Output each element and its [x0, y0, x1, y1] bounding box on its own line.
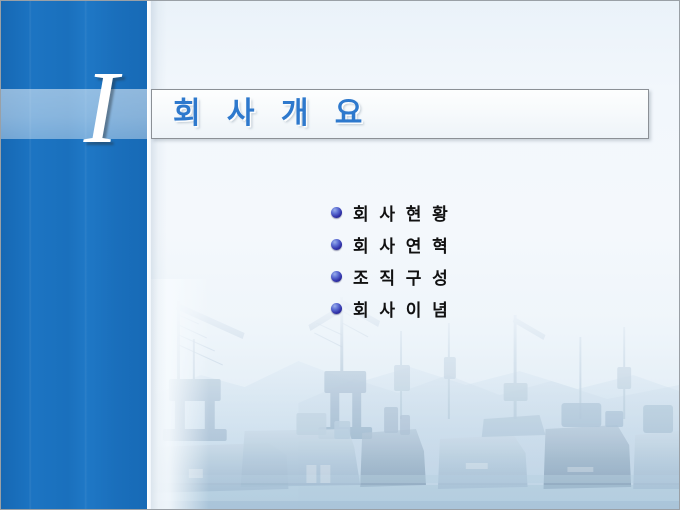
agenda-list: 회 사 현 황 회 사 연 혁 조 직 구 성 회 사 이 념 [331, 197, 631, 325]
section-numeral: I [55, 53, 147, 163]
page-title: 회 사 개 요 [173, 91, 371, 137]
list-item-label: 조 직 구 성 [353, 264, 451, 289]
sphere-bullet-icon [331, 271, 342, 282]
list-item-label: 회 사 연 혁 [353, 232, 451, 257]
list-item[interactable]: 조 직 구 성 [331, 261, 631, 292]
sidebar-edge-shadow [151, 1, 167, 510]
list-item[interactable]: 회 사 이 념 [331, 293, 631, 324]
list-item-label: 회 사 현 황 [353, 200, 451, 225]
sphere-bullet-icon [331, 207, 342, 218]
presentation-slide: I 회 사 개 요 회 사 현 황 회 사 연 혁 조 직 구 성 회 사 이 … [0, 0, 680, 510]
sphere-bullet-icon [331, 239, 342, 250]
sphere-bullet-icon [331, 303, 342, 314]
list-item-label: 회 사 이 념 [353, 296, 451, 321]
list-item[interactable]: 회 사 현 황 [331, 197, 631, 228]
list-item[interactable]: 회 사 연 혁 [331, 229, 631, 260]
